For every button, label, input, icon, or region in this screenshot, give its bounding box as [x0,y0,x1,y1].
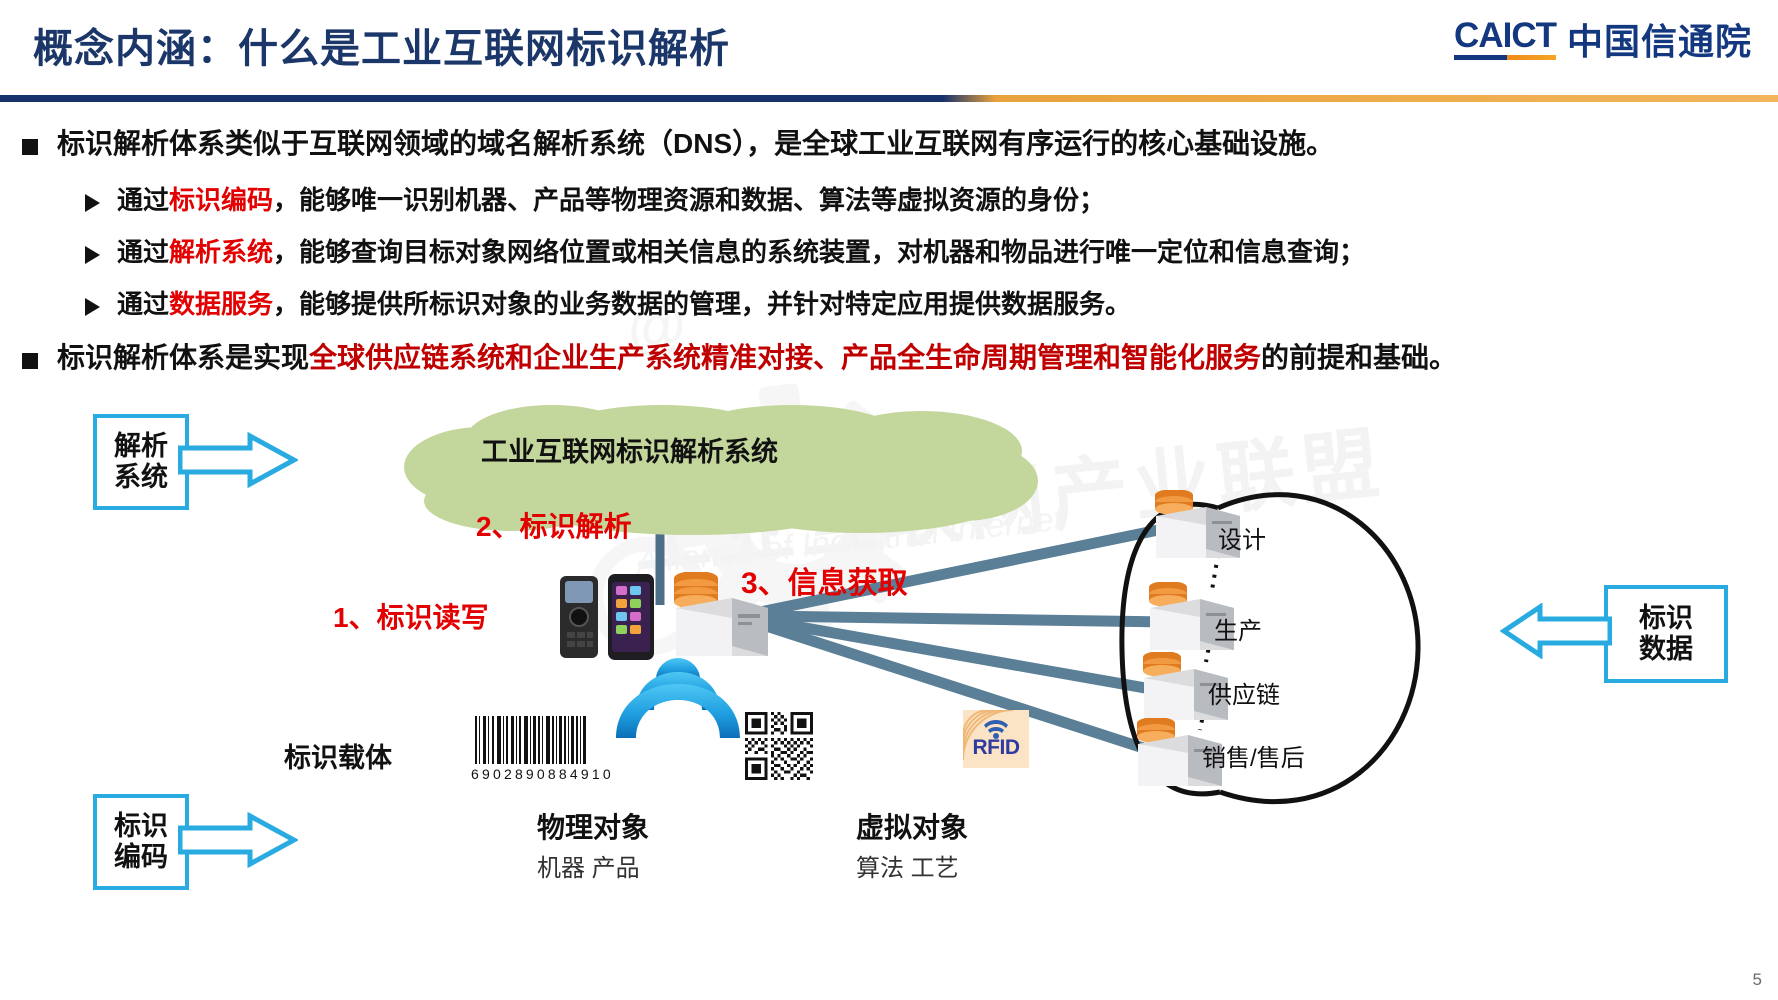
smartphone-icon [608,574,654,660]
seg-plain: 通过 [117,185,169,215]
seg-plain-2: ，能够唯一识别机器、产品等物理资源和数据、算法等虚拟资源的身份； [273,185,1105,215]
bullet-2-2: 通过解析系统，能够查询目标对象网络位置或相关信息的系统装置，对机器和物品进行唯一… [85,236,1365,269]
seg-highlight: 数据服务 [169,289,273,319]
callout-identifier-data[interactable]: 标识 数据 [1604,585,1728,683]
seg-highlight: 解析系统 [169,237,273,267]
callout-identifier-encoding[interactable]: 标识 编码 [93,794,189,890]
seg-plain: 通过 [117,289,169,319]
bullet-2: 标识解析体系是实现全球供应链系统和企业生产系统精准对接、产品全生命周期管理和智能… [22,340,1457,375]
arrow-bullet-icon [85,298,100,316]
bullet-2-1-text: 通过标识编码，能够唯一识别机器、产品等物理资源和数据、算法等虚拟资源的身份； [117,184,1105,217]
cloud-label: 工业互联网标识解析系统 [481,430,778,469]
callout-encoding-line1: 标识 [114,811,168,842]
callout-resolution-line1: 解析 [114,431,168,462]
barcode-number: 6902890884910 [471,766,614,782]
seg-plain-2: ，能够提供所标识对象的业务数据的管理，并针对特定应用提供数据服务。 [273,289,1131,319]
step-1-label: 1、标识读写 [333,596,489,636]
bullet-2-2-text: 通过解析系统，能够查询目标对象网络位置或相关信息的系统装置，对机器和物品进行唯一… [117,236,1365,269]
bottom-group-0-items: 机器 产品 [537,848,640,883]
server-label-supplychain: 供应链 [1208,675,1280,710]
arrow-right-encoding-icon [178,812,298,868]
bottom-group-1-title: 虚拟对象 [856,806,968,846]
seg-highlight: 全球供应链系统和企业生产系统精准对接、产品全生命周期管理和智能化服务 [309,342,1261,373]
bullet-2-3-text: 通过数据服务，能够提供所标识对象的业务数据的管理，并针对特定应用提供数据服务。 [117,288,1131,321]
bottom-group-1-items: 算法 工艺 [856,848,959,883]
step-2-label: 2、标识解析 [476,505,632,545]
logo-underline [1454,55,1556,60]
arrow-left-data-icon [1500,603,1612,659]
carrier-label: 标识载体 [284,736,392,775]
page-title: 概念内涵：什么是工业互联网标识解析 [33,16,730,74]
rfid-tag: RFID [963,710,1029,768]
qr-code-icon [745,712,813,780]
header-divider [0,95,1778,102]
seg-plain: 标识解析体系是实现 [57,342,309,373]
square-bullet-icon [22,139,38,155]
logo-latin-text: CAICT [1454,18,1556,53]
server-pc-icon [674,572,768,656]
callout-resolution-system[interactable]: 解析 系统 [93,414,189,510]
bullet-2-1: 通过标识编码，能够唯一识别机器、产品等物理资源和数据、算法等虚拟资源的身份； [85,184,1105,217]
server-label-design: 设计 [1218,520,1266,555]
server-label-sales: 销售/售后 [1202,738,1305,773]
wireless-signal-icon [608,652,748,742]
bottom-group-0-title: 物理对象 [537,806,649,846]
logo-chinese-text: 中国信通院 [1567,24,1752,60]
handheld-scanner-icon [560,576,598,658]
square-bullet-icon [22,353,38,369]
callout-data-line2: 数据 [1639,634,1693,665]
seg-highlight: 标识编码 [169,185,273,215]
page-number: 5 [1753,970,1762,990]
logo-latin-wrap: CAICT [1454,18,1556,60]
bullet-2-3: 通过数据服务，能够提供所标识对象的业务数据的管理，并针对特定应用提供数据服务。 [85,288,1131,321]
server-label-production: 生产 [1214,611,1262,646]
arrow-bullet-icon [85,246,100,264]
arrow-right-resolution-icon [178,432,298,488]
callout-encoding-line2: 编码 [114,842,168,873]
seg-plain-2: 的前提和基础。 [1261,342,1457,373]
seg-plain-2: ，能够查询目标对象网络位置或相关信息的系统装置，对机器和物品进行唯一定位和信息查… [273,237,1365,267]
rfid-label: RFID [973,737,1020,758]
callout-resolution-line2: 系统 [114,462,168,493]
diagram-canvas: 工业互联网标识解析系统 解析 系统 标识 编码 标识 数据 2、标识解析 3、信… [0,400,1778,1000]
caict-logo: CAICT 中国信通院 [1454,18,1752,60]
device-cluster-icon [556,572,786,662]
arrow-bullet-icon [85,194,100,212]
barcode-icon [473,716,591,768]
bullet-1: 标识解析体系类似于互联网领域的域名解析系统（DNS），是全球工业互联网有序运行的… [22,126,1334,161]
bullet-2-text: 标识解析体系是实现全球供应链系统和企业生产系统精准对接、产品全生命周期管理和智能… [57,340,1457,375]
slide-root: @ 工业互联网产业联盟 Alliance of Industrial Inter… [0,0,1778,1000]
callout-data-line1: 标识 [1639,603,1693,634]
bullet-1-text: 标识解析体系类似于互联网领域的域名解析系统（DNS），是全球工业互联网有序运行的… [57,126,1334,161]
seg-plain: 通过 [117,237,169,267]
cloud-shape [362,405,1042,535]
